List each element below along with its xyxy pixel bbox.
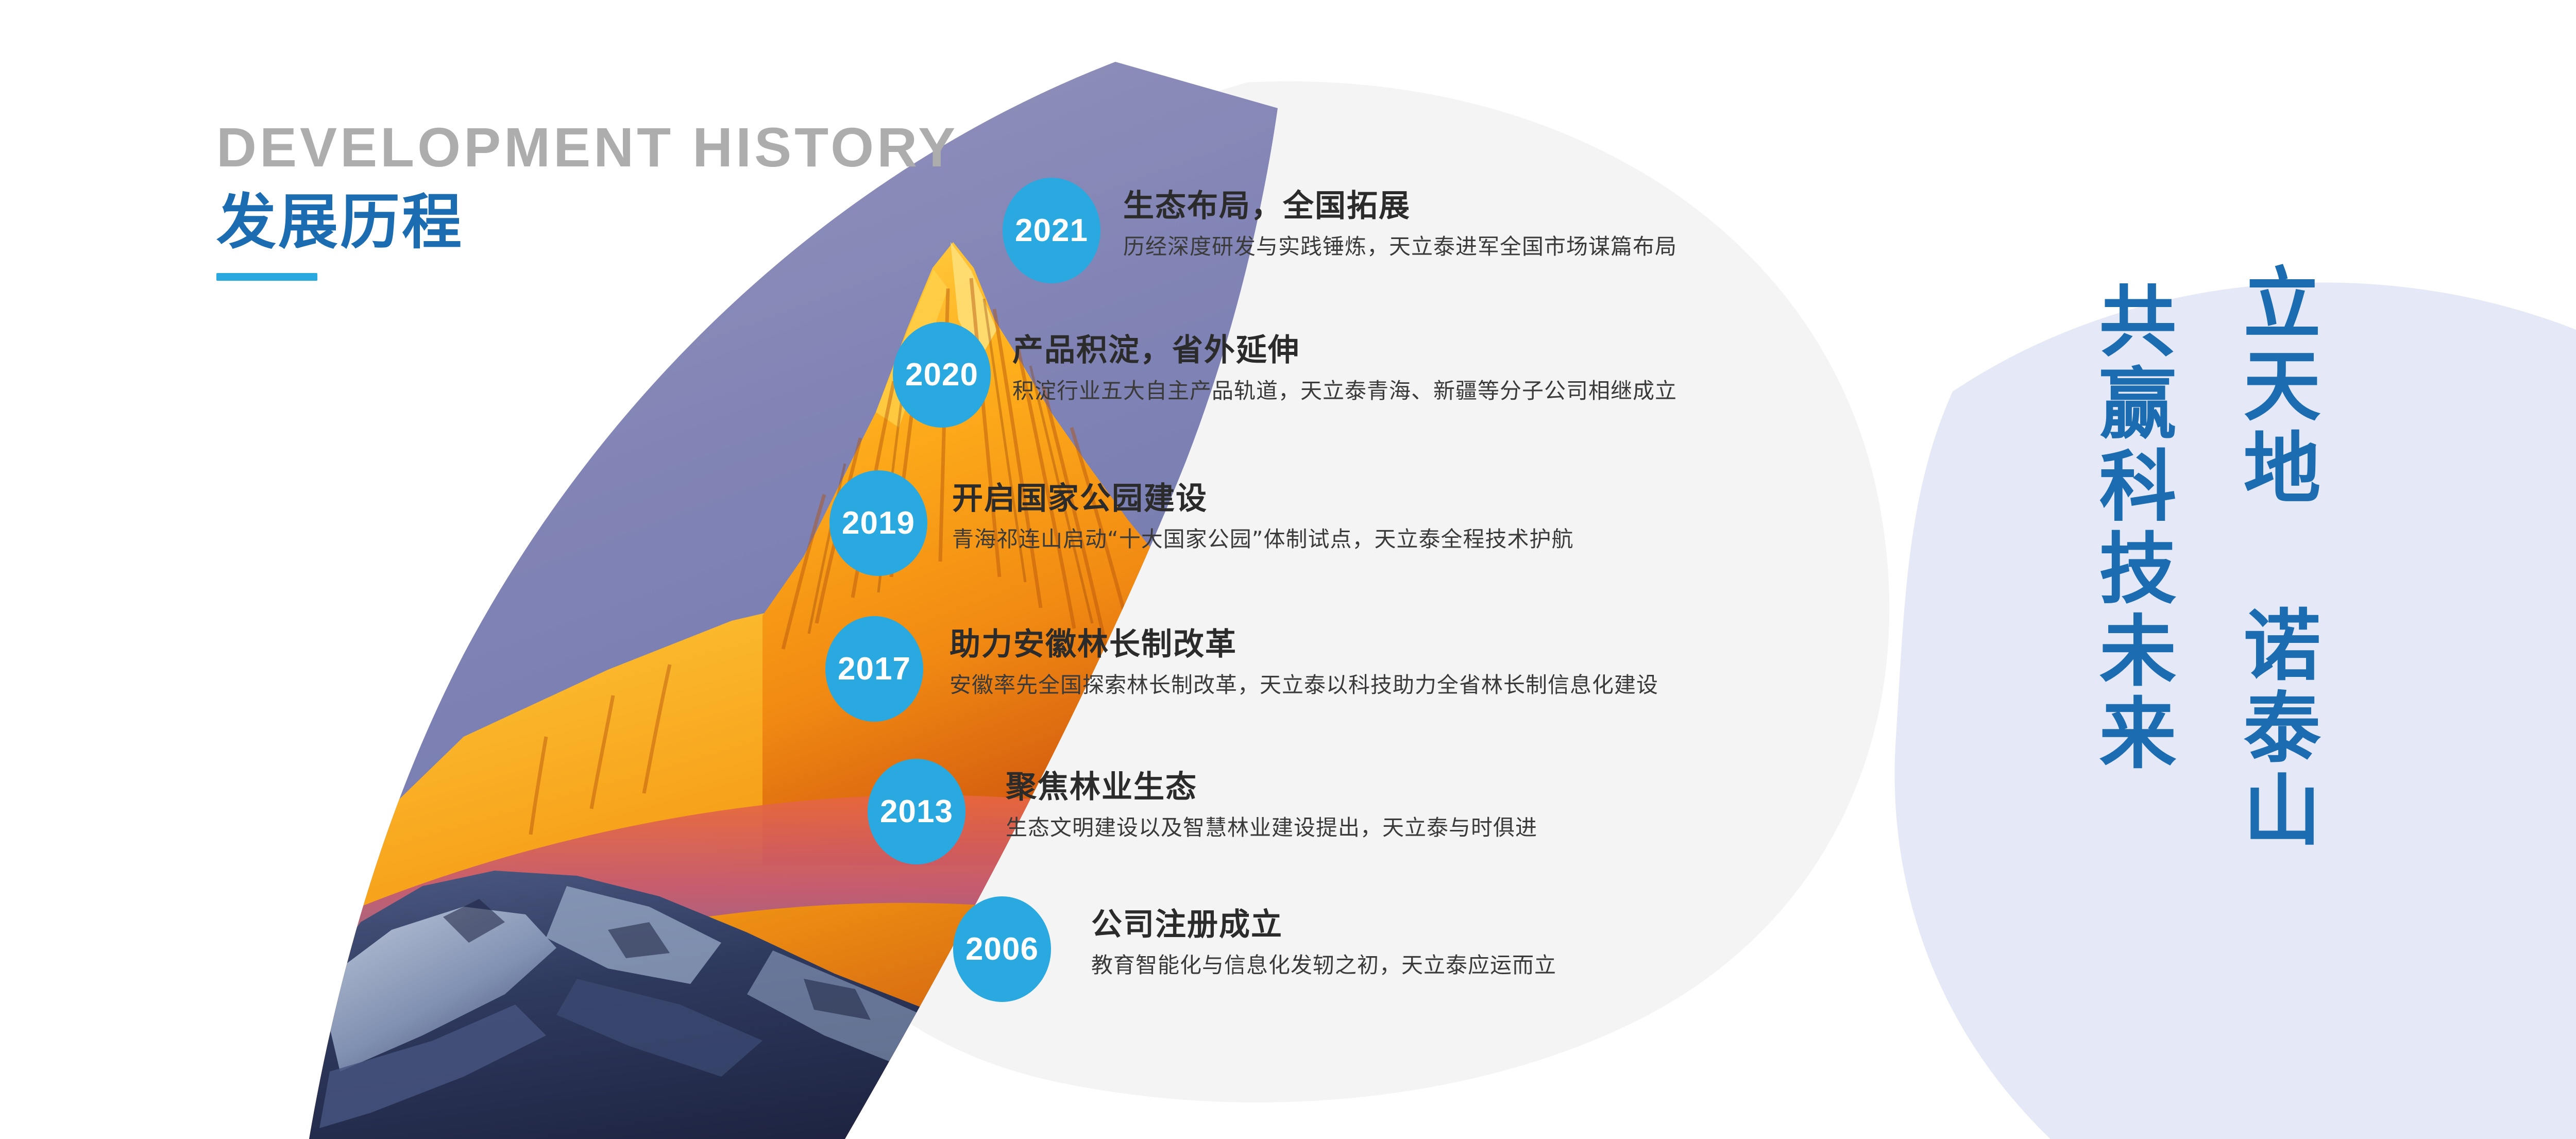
timeline-year-badge-2020[interactable]: 2020: [893, 322, 991, 428]
heading-chinese: 发展历程: [216, 193, 1041, 252]
timeline-desc: 青海祁连山启动“十大国家公园”体制试点，天立泰全程技术护航: [952, 529, 1574, 550]
timeline-title: 助力安徽林长制改革: [950, 629, 1658, 660]
heading-english: DEVELOPMENT HISTORY: [216, 120, 1041, 175]
timeline-title: 产品积淀，省外延伸: [1012, 335, 1677, 366]
slide-canvas: DEVELOPMENT HISTORY 发展历程 2021 生态布局，全国拓展 …: [0, 0, 2576, 1139]
timeline-year-badge-2013[interactable]: 2013: [868, 759, 965, 864]
page-heading: DEVELOPMENT HISTORY 发展历程: [216, 120, 1041, 281]
timeline-desc: 教育智能化与信息化发轫之初，天立泰应运而立: [1091, 955, 1556, 976]
timeline-year-label: 2017: [838, 651, 911, 687]
timeline-desc: 安徽率先全国探索林长制改革，天立泰以科技助力全省林长制信息化建设: [950, 674, 1658, 696]
timeline-year-badge-2017[interactable]: 2017: [825, 616, 923, 722]
timeline-year-label: 2020: [905, 356, 978, 393]
timeline-title: 生态布局，全国拓展: [1123, 191, 1677, 222]
slogan-column-left: 共赢科技未来: [2089, 281, 2173, 775]
timeline-year-label: 2019: [842, 505, 915, 541]
heading-underline: [216, 273, 317, 281]
timeline-title: 聚焦林业生态: [1006, 772, 1537, 803]
timeline-year-badge-2006[interactable]: 2006: [953, 896, 1051, 1002]
timeline-year-label: 2006: [965, 931, 1039, 967]
timeline-year-label: 2021: [1015, 212, 1088, 249]
timeline-title: 公司注册成立: [1091, 909, 1556, 940]
timeline-year-label: 2013: [880, 793, 953, 830]
slogan-column-right: 立天地 诺泰山: [2233, 263, 2317, 852]
timeline-desc: 生态文明建设以及智慧林业建设提出，天立泰与时俱进: [1006, 817, 1537, 839]
timeline-year-badge-2021[interactable]: 2021: [1003, 178, 1100, 283]
timeline-year-badge-2019[interactable]: 2019: [829, 470, 927, 576]
timeline-desc: 积淀行业五大自主产品轨道，天立泰青海、新疆等分子公司相继成立: [1012, 380, 1677, 402]
timeline-desc: 历经深度研发与实践锤炼，天立泰进军全国市场谋篇布局: [1123, 236, 1677, 258]
timeline-title: 开启国家公园建设: [952, 483, 1574, 514]
